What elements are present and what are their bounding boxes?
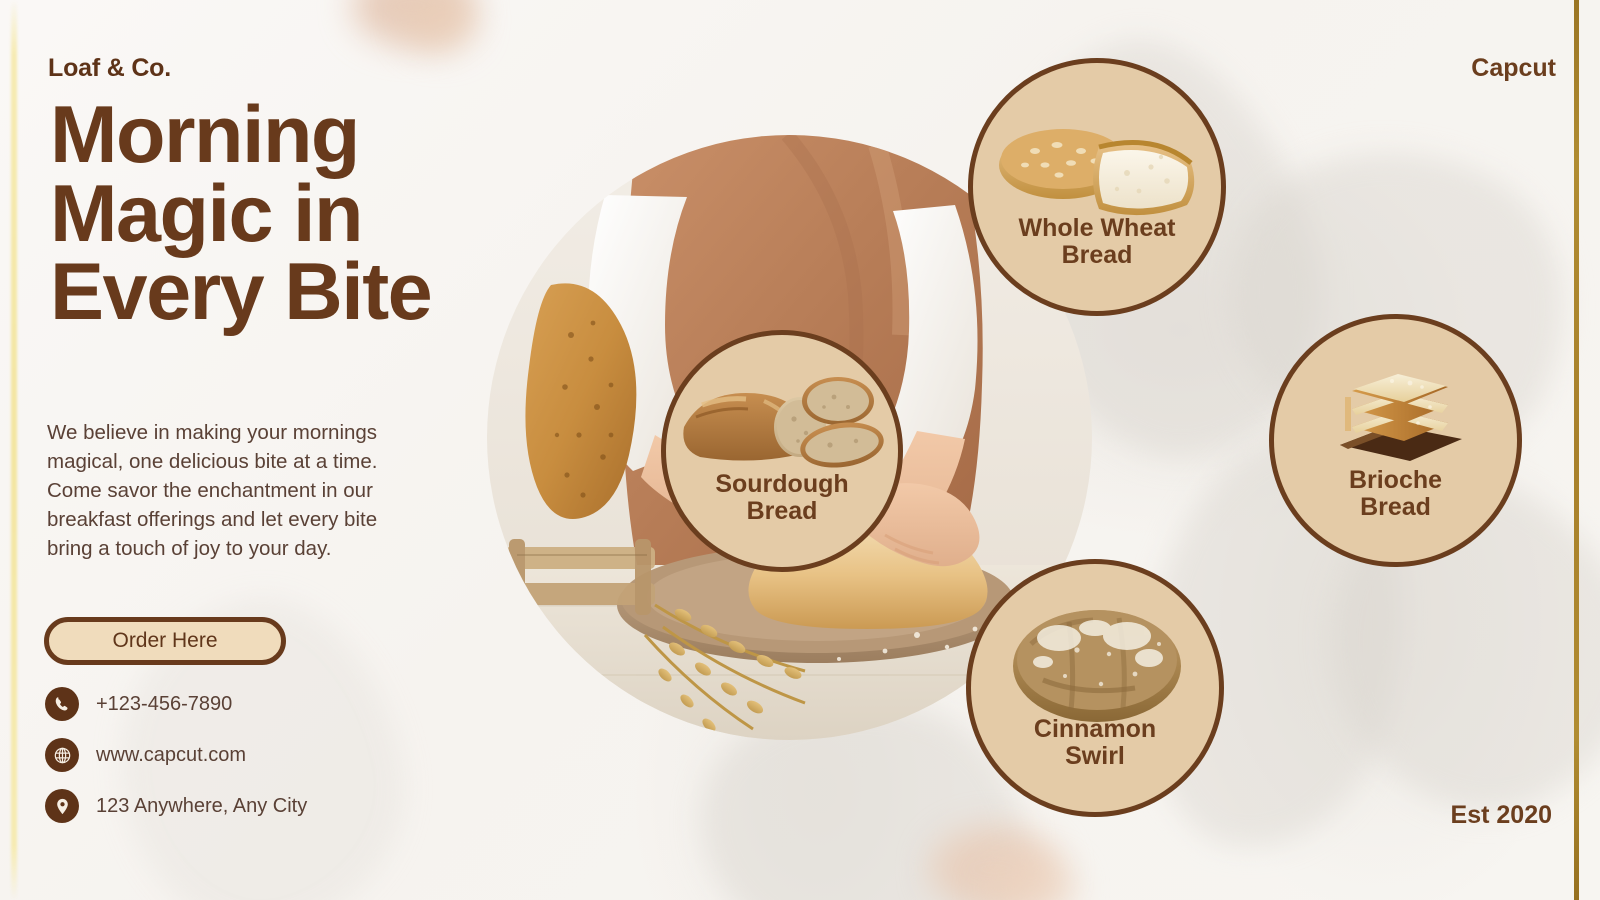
seeded-loaf-icon [991, 111, 1203, 221]
frame-line-left [11, 0, 17, 900]
body-line-1: We believe in making your mornings [47, 418, 487, 447]
body-line-5: bring a touch of joy to your day. [47, 534, 487, 563]
body-line-2: magical, one delicious bite at a time. [47, 447, 487, 476]
corner-label-bottom-right: Est 2020 [1451, 801, 1552, 830]
contact-row-phone[interactable]: +123-456-7890 [45, 687, 307, 721]
corner-label-top-right: Capcut [1471, 54, 1556, 83]
globe-icon [45, 738, 79, 772]
product-label-line-2: Bread [666, 498, 898, 525]
dusted-round-loaf-icon [1009, 604, 1185, 724]
order-here-label: Order Here [112, 629, 217, 653]
product-label-whole-wheat: Whole Wheat Bread [973, 215, 1221, 269]
contact-row-website[interactable]: www.capcut.com [45, 738, 307, 772]
product-label-line-2: Bread [973, 242, 1221, 269]
product-label-line-2: Swirl [971, 743, 1219, 770]
phone-number: +123-456-7890 [96, 693, 232, 716]
website-url: www.capcut.com [96, 744, 246, 767]
poster-canvas: Loaf & Co. Capcut Est 2020 Morning Magic… [0, 0, 1600, 900]
product-label-line-1: Sourdough [666, 471, 898, 498]
phone-icon [45, 687, 79, 721]
product-label-sourdough: Sourdough Bread [666, 471, 898, 525]
brioche-slices-icon [1322, 353, 1470, 475]
body-line-3: Come savor the enchantment in our [47, 476, 487, 505]
product-label-cinnamon-swirl: Cinnamon Swirl [971, 716, 1219, 770]
product-label-line-1: Whole Wheat [973, 215, 1221, 242]
product-label-line-1: Cinnamon [971, 716, 1219, 743]
location-pin-icon [45, 789, 79, 823]
body-paragraph: We believe in making your mornings magic… [47, 418, 487, 564]
sourdough-loaf-icon [678, 371, 886, 475]
product-label-line-2: Bread [1274, 494, 1517, 521]
product-badge-whole-wheat[interactable]: Whole Wheat Bread [968, 58, 1226, 316]
address-text: 123 Anywhere, Any City [96, 795, 307, 818]
product-badge-sourdough[interactable]: Sourdough Bread [661, 330, 903, 572]
product-label-line-1: Brioche [1274, 467, 1517, 494]
frame-line-right [1574, 0, 1579, 900]
brand-name: Loaf & Co. [48, 54, 171, 83]
product-badge-cinnamon-swirl[interactable]: Cinnamon Swirl [966, 559, 1224, 817]
body-line-4: breakfast offerings and let every bite [47, 505, 487, 534]
contact-list: +123-456-7890 www.capcut.com 123 Anywher… [45, 687, 307, 823]
product-label-brioche: Brioche Bread [1274, 467, 1517, 521]
product-badge-brioche[interactable]: Brioche Bread [1269, 314, 1522, 567]
contact-row-address[interactable]: 123 Anywhere, Any City [45, 789, 307, 823]
order-here-button[interactable]: Order Here [44, 617, 286, 665]
